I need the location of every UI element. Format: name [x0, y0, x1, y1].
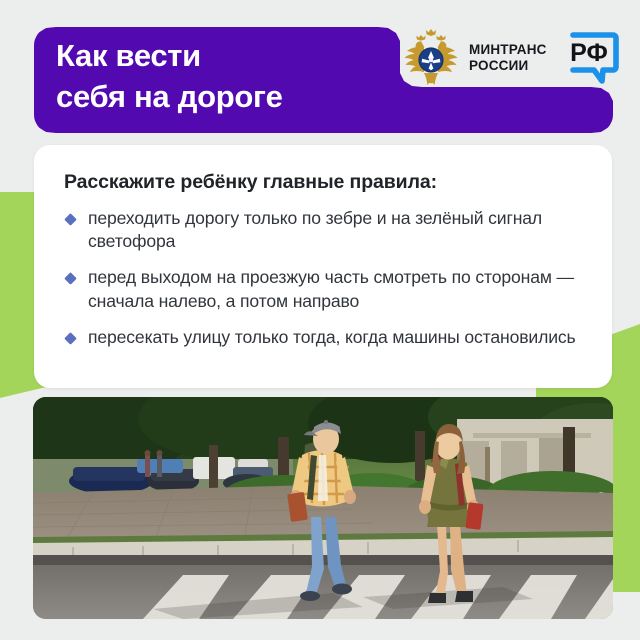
rules-heading: Расскажите ребёнку главные правила:: [64, 171, 582, 194]
diamond-bullet-icon: [64, 213, 77, 226]
rule-item: пересекать улицу только тогда, когда маш…: [64, 326, 582, 349]
rule-item-text: перед выходом на проезжую часть смотреть…: [88, 267, 574, 310]
rules-list: переходить дорогу только по зебре и на з…: [64, 207, 582, 349]
diamond-bullet-icon: [64, 332, 77, 345]
rule-item-text: пересекать улицу только тогда, когда маш…: [88, 327, 576, 347]
rule-item: переходить дорогу только по зебре и на з…: [64, 207, 582, 253]
rf-speech-bubble-icon: РФ: [563, 29, 623, 87]
rules-card: Расскажите ребёнку главные правила: пере…: [34, 145, 612, 388]
ministry-logo-lockup: МИНТРАНС РОССИИ РФ: [402, 25, 623, 91]
photo-children-crosswalk: [33, 397, 613, 619]
ministry-name: МИНТРАНС РОССИИ: [469, 42, 547, 73]
rule-item-text: переходить дорогу только по зебре и на з…: [88, 208, 542, 251]
poster-root: Как вести себя на дороге: [0, 0, 640, 640]
page-title: Как вести себя на дороге: [56, 36, 386, 118]
double-headed-eagle-icon: [402, 27, 460, 89]
svg-text:РФ: РФ: [570, 39, 608, 67]
ministry-name-line-1: МИНТРАНС: [469, 42, 547, 58]
rule-item: перед выходом на проезжую часть смотреть…: [64, 266, 582, 312]
diamond-bullet-icon: [64, 273, 77, 286]
ministry-name-line-2: РОССИИ: [469, 58, 547, 74]
